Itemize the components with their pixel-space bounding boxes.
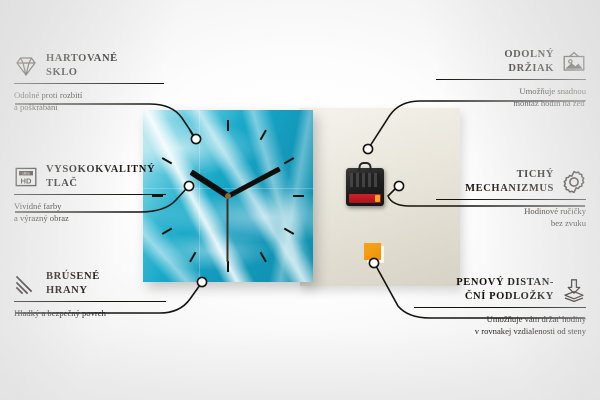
feature-underline [436,199,586,200]
feature-title: ODOLNÝ DRŽIAK [504,48,554,76]
feature-title-line1: TICHÝ [465,168,554,182]
feature-title-line1: BRÚSENÉ [46,270,100,284]
feature-desc-line1: Hladký a bezpečný povrch [14,307,166,319]
feature-underline [414,307,586,308]
connector-dot-hanger [363,144,372,153]
feature-title-line1: PENOVÝ DISTAN- [456,276,554,290]
feature-header: BRÚSENÉ HRANY [14,270,166,298]
feature-desc-line1: Umožňuje vám držať hodiny [414,313,586,325]
picture-hanger-icon [562,50,586,74]
feature-desc-line1: Vividné farby [14,200,166,212]
feature-header: TICHÝ MECHANIZMUS [436,168,586,196]
feature-header: ODOLNÝ DRŽIAK [436,48,586,76]
connector-dot-print [184,181,193,190]
connector-dot-edges [197,277,206,286]
feature-desc-line1: Odolné proti rozbití [14,89,164,101]
feature-underline [436,79,586,80]
feature-title: VYSOKOKVALITNÝ TLAČ [46,163,155,191]
feature-desc-line2: bez zvuku [436,217,586,229]
feature-header: PENOVÝ DISTAN- ČNÍ PODLOŽKY [414,276,586,304]
feature-high-quality-print: ultra HD VYSOKOKVALITNÝ TLAČ Vividné far… [14,163,166,224]
feature-header: HARTOVANÉ SKLO [14,52,164,80]
feature-title-line2: SKLO [46,66,118,80]
feature-underline [14,83,164,84]
connector-dot-foam [369,258,378,267]
feature-title-line2: DRŽIAK [504,62,554,76]
feature-title: HARTOVANÉ SKLO [46,52,118,80]
feature-underline [14,194,166,195]
feature-desc-line2: montáž hodin na zeď [436,97,586,109]
feature-desc-line1: Umožňuje snadnou [436,85,586,97]
feature-title-line2: ČNÍ PODLOŽKY [456,290,554,304]
feature-title-line2: MECHANIZMUS [465,182,554,196]
connector-dot-mechanism [394,181,403,190]
feature-ground-edges: BRÚSENÉ HRANY Hladký a bezpečný povrch [14,270,166,319]
feature-silent-mechanism: TICHÝ MECHANIZMUS Hodinové ručičky bez z… [436,168,586,229]
feature-desc-line2: v rovnakej vzdialenosti od steny [414,325,586,337]
feature-underline [14,301,166,302]
feature-description: Odolné proti rozbití a poškrábání [14,89,164,113]
feature-description: Vividné farby a výrazný obraz [14,200,166,224]
feature-title-line1: ODOLNÝ [504,48,554,62]
feature-desc-line1: Hodinové ručičky [436,205,586,217]
feature-description: Umožňuje snadnou montáž hodin na zeď [436,85,586,109]
feature-title-line2: TLAČ [46,177,155,191]
feature-title: PENOVÝ DISTAN- ČNÍ PODLOŽKY [456,276,554,304]
feature-desc-line2: a výrazný obraz [14,212,166,224]
feature-title: TICHÝ MECHANIZMUS [465,168,554,196]
feature-title-line2: HRANY [46,284,100,298]
feature-title-line1: HARTOVANÉ [46,52,118,66]
feature-description: Umožňuje vám držať hodiny v rovnakej vzd… [414,313,586,337]
ultra-hd-icon: ultra HD [14,165,38,189]
feature-title: BRÚSENÉ HRANY [46,270,100,298]
arrow-onto-stack-icon [562,278,586,302]
feature-tempered-glass: HARTOVANÉ SKLO Odolné proti rozbití a po… [14,52,164,113]
diamond-icon [14,54,38,78]
feature-header: ultra HD VYSOKOKVALITNÝ TLAČ [14,163,166,191]
feature-durable-hanger: ODOLNÝ DRŽIAK Umožňuje snadnou montáž ho… [436,48,586,109]
feature-title-line1: VYSOKOKVALITNÝ [46,163,155,177]
feature-foam-spacers: PENOVÝ DISTAN- ČNÍ PODLOŽKY Umožňuje vám… [414,276,586,337]
gear-icon [562,170,586,194]
diagonal-lines-icon [14,272,38,296]
svg-text:ultra: ultra [23,171,30,175]
feature-description: Hodinové ručičky bez zvuku [436,205,586,229]
svg-text:HD: HD [21,176,32,185]
infographic-canvas: HARTOVANÉ SKLO Odolné proti rozbití a po… [0,0,600,400]
connector-dot-tempered-glass [191,134,200,143]
feature-desc-line2: a poškrábání [14,101,164,113]
feature-description: Hladký a bezpečný povrch [14,307,166,319]
